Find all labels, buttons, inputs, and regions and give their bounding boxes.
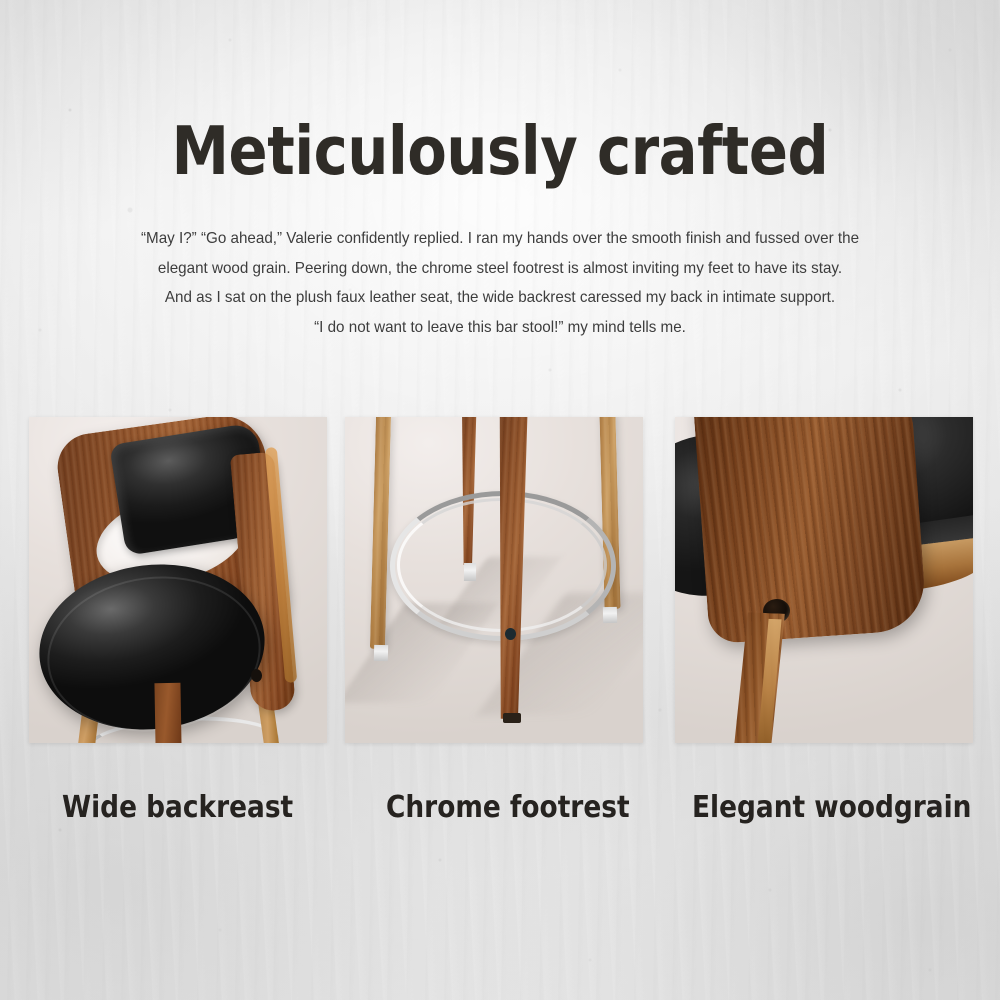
caption-chrome-footrest: Chrome footrest — [386, 786, 630, 830]
feature-photo-elegant-woodgrain — [675, 417, 973, 743]
intro-paragraph: “May I?” “Go ahead,” Valerie confidently… — [50, 224, 950, 342]
intro-line-1: “May I?” “Go ahead,” Valerie confidently… — [61, 224, 939, 254]
stool-screw-hole-icon — [505, 628, 516, 640]
feature-photo-wide-backrest — [29, 417, 327, 743]
gallery-captions: Wide backreast Chrome footrest Elegant w… — [0, 786, 1000, 834]
intro-line-4: “I do not want to leave this bar stool!”… — [61, 313, 939, 343]
leg-tip-far-left — [374, 645, 388, 661]
promo-banner: Meticulously crafted “May I?” “Go ahead,… — [0, 0, 1000, 1000]
stool-leg-center — [154, 683, 181, 743]
intro-line-3: And as I sat on the plush faux leather s… — [61, 283, 939, 313]
caption-elegant-woodgrain: Elegant woodgrain — [692, 786, 971, 830]
leg-tip-far-right — [603, 607, 617, 623]
walnut-side-panel — [693, 417, 928, 644]
feature-gallery — [0, 417, 1000, 743]
header: Meticulously crafted — [0, 112, 1000, 190]
intro-line-2: elegant wood grain. Peering down, the ch… — [61, 254, 939, 284]
caption-wide-backrest: Wide backreast — [62, 786, 293, 830]
leg-foot-center — [503, 713, 521, 723]
page-title: Meticulously crafted — [70, 112, 930, 190]
feature-photo-chrome-footrest — [345, 417, 643, 743]
